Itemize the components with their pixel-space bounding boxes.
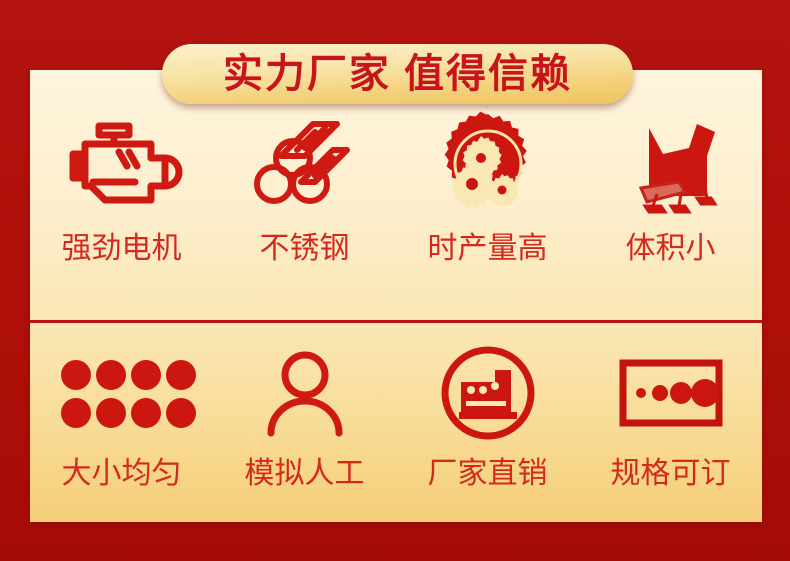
engine-icon <box>47 110 197 218</box>
feature-cell-stainless-steel[interactable]: 不锈钢 <box>213 70 396 320</box>
feature-label: 厂家直销 <box>428 459 548 489</box>
feature-cell-compact[interactable]: 体积小 <box>579 70 762 320</box>
uniform-dots-icon <box>47 345 197 441</box>
feature-label: 不锈钢 <box>260 234 350 264</box>
feature-label: 大小均匀 <box>62 459 182 489</box>
feature-cell-factory-direct[interactable]: 厂家直销 <box>396 323 579 522</box>
feature-panel: 强劲电机 不 <box>30 70 762 522</box>
gear-icon <box>413 110 563 218</box>
factory-circle-icon <box>413 345 563 441</box>
feature-label: 模拟人工 <box>245 459 365 489</box>
feature-cell-custom-spec[interactable]: 规格可订 <box>579 323 762 522</box>
feature-label: 体积小 <box>626 234 716 264</box>
title-banner: 实力厂家 值得信赖 <box>162 44 633 104</box>
size-options-icon <box>596 345 746 441</box>
feature-cell-output[interactable]: 时产量高 <box>396 70 579 320</box>
promo-poster: 强劲电机 不 <box>0 0 790 561</box>
feature-cell-manual-simulation[interactable]: 模拟人工 <box>213 323 396 522</box>
compact-machine-icon <box>596 110 746 218</box>
page-title: 实力厂家 值得信赖 <box>223 54 572 94</box>
feature-label: 规格可订 <box>611 459 731 489</box>
feature-row-bottom: 大小均匀 模拟人工 <box>30 323 762 522</box>
person-icon <box>230 345 380 441</box>
feature-cell-uniform-size[interactable]: 大小均匀 <box>30 323 213 522</box>
feature-label: 时产量高 <box>428 234 548 264</box>
steel-tubes-icon <box>230 110 380 218</box>
feature-row-top: 强劲电机 不 <box>30 70 762 320</box>
feature-label: 强劲电机 <box>62 234 182 264</box>
feature-cell-engine[interactable]: 强劲电机 <box>30 70 213 320</box>
